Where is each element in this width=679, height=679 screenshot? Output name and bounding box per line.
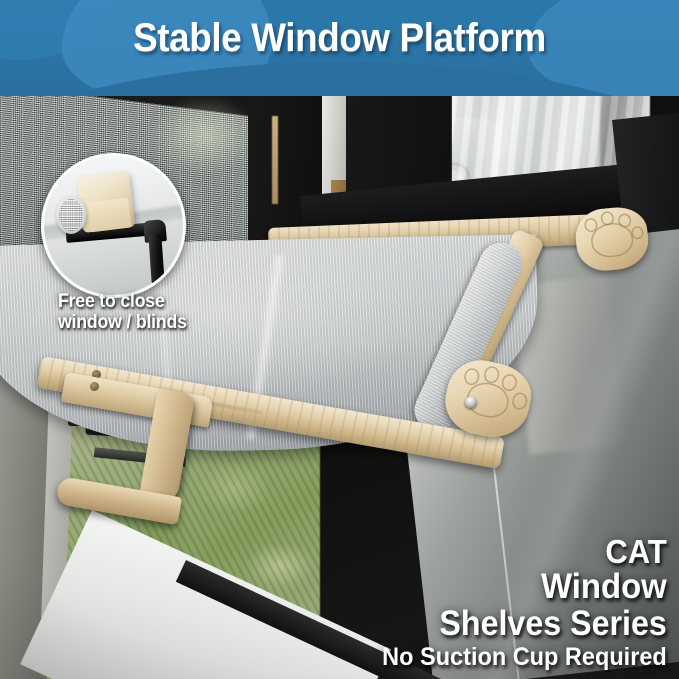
paw-toe xyxy=(511,391,529,411)
caption-right-line4: No Suction Cup Required xyxy=(382,643,667,671)
caption-right-line1: CAT xyxy=(382,535,667,569)
caption-series-block: CAT Window Shelves Series No Suction Cup… xyxy=(364,535,667,671)
caption-free-to-close: Free to close window / blinds xyxy=(58,292,253,333)
paw-toe xyxy=(483,365,501,385)
window-mullion-accent xyxy=(272,116,278,204)
header-banner: Stable Window Platform xyxy=(0,0,679,96)
product-marketing-image: Stable Window Platform Free to close win… xyxy=(0,0,679,679)
caption-left-line1: Free to close xyxy=(58,292,253,313)
inset-gloss-highlight xyxy=(41,153,186,216)
caption-right-line2: Window xyxy=(382,569,667,605)
bracket-detail-inset xyxy=(41,153,186,298)
caption-right-line3: Shelves Series xyxy=(388,606,667,642)
paw-toe xyxy=(631,226,644,240)
page-title: Stable Window Platform xyxy=(27,16,652,61)
wooden-sill-clamp xyxy=(66,372,216,524)
caption-left-line2: window / blinds xyxy=(58,313,253,334)
paw-toe xyxy=(617,213,631,228)
